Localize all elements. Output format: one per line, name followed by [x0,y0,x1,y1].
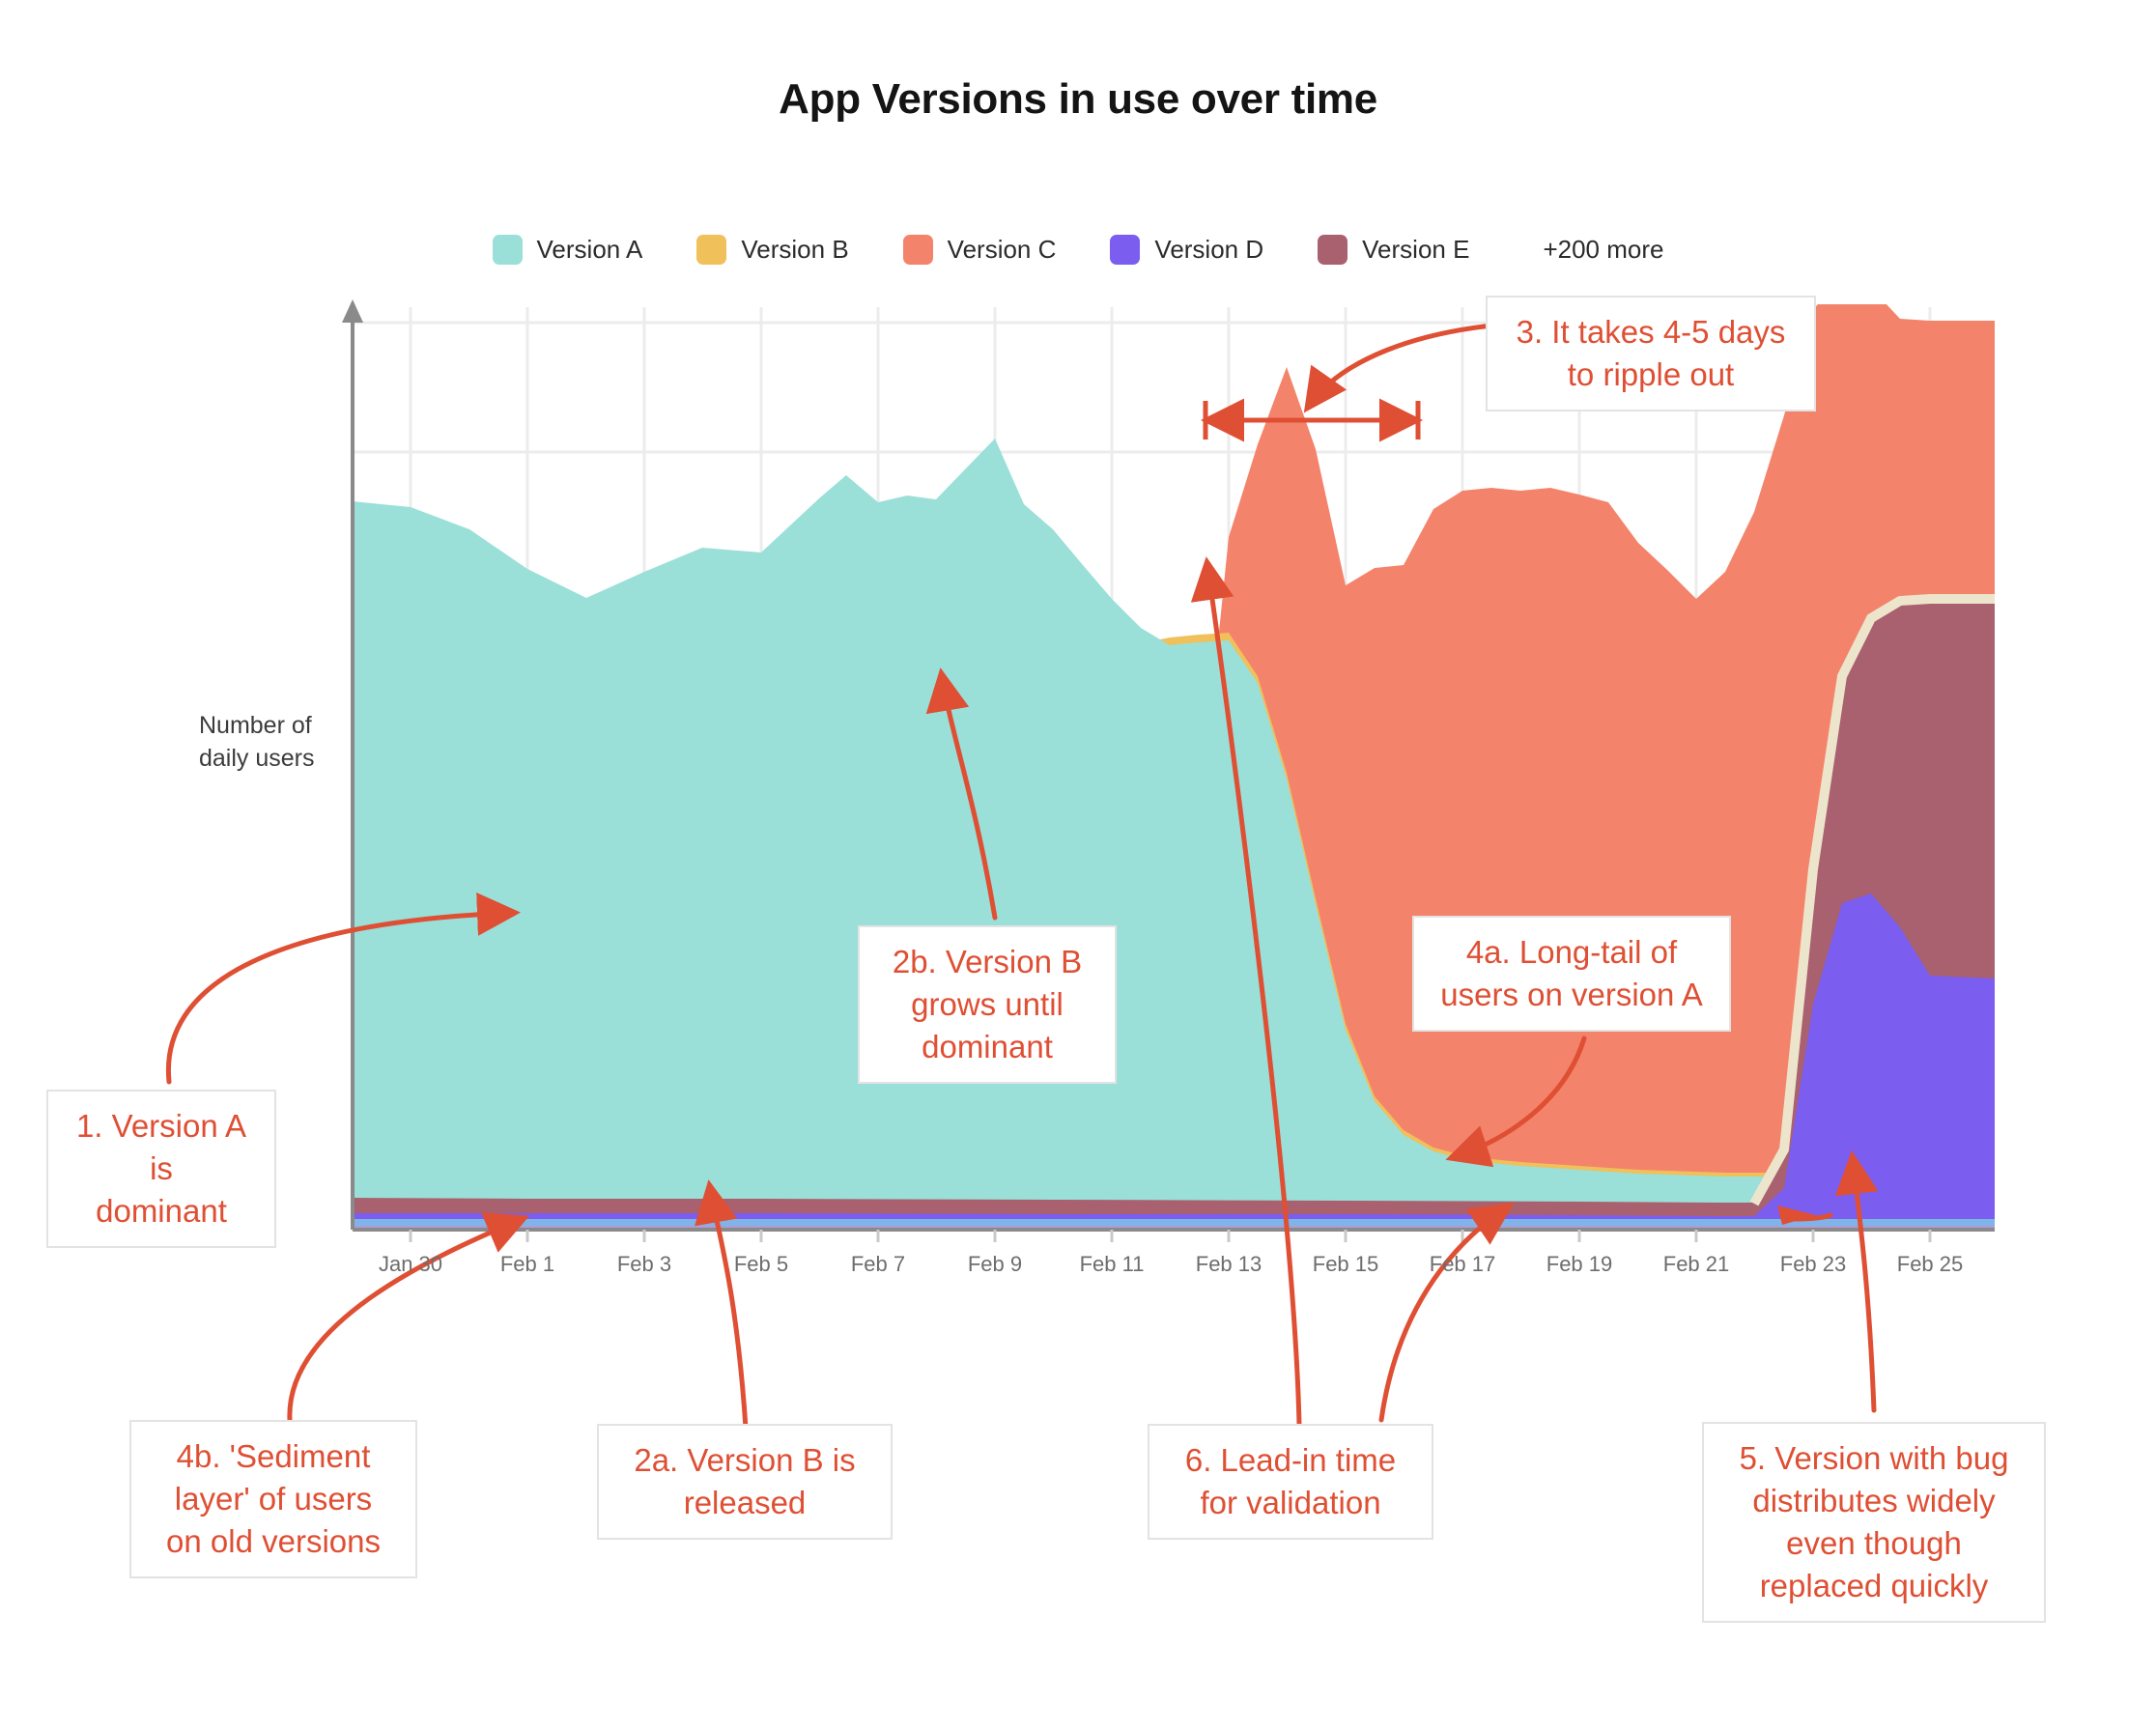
legend-item-version-b[interactable]: Version B [696,235,848,265]
legend-item-label: Version D [1154,235,1263,265]
chart-legend: Version AVersion BVersion CVersion DVers… [0,235,2156,265]
legend-swatch-icon [903,235,933,265]
axis-ticks [411,1230,1930,1242]
x-tick-label: Feb 5 [734,1252,788,1277]
annotation-3: 3. It takes 4-5 days to ripple out [1486,296,1816,411]
x-tick-label: Feb 17 [1430,1252,1496,1277]
y-axis-label: Number of daily users [199,710,315,776]
legend-item-label: Version B [741,235,848,265]
annotation-6: 6. Lead-in time for validation [1148,1424,1433,1540]
grid-horizontal [353,323,1995,971]
legend-swatch-icon [493,235,523,265]
area-version-a-dominant [353,439,1229,1230]
x-tick-label: Feb 25 [1897,1252,1964,1277]
legend-more-label[interactable]: +200 more [1543,235,1663,265]
area-version-a [353,640,1995,1230]
annotation-5: 5. Version with bug distributes widely e… [1702,1422,2046,1623]
sediment-stripe-blue [353,1219,1995,1227]
area-version-d [353,893,1995,1230]
legend-item-version-a[interactable]: Version A [493,235,643,265]
page-title: App Versions in use over time [0,75,2156,124]
area-version-b [353,633,1995,1230]
x-tick-label: Feb 11 [1080,1252,1145,1277]
legend-item-version-c[interactable]: Version C [903,235,1057,265]
legend-swatch-icon [1318,235,1347,265]
legend-item-version-d[interactable]: Version D [1110,235,1263,265]
annotation-1: 1. Version A is dominant [46,1090,276,1248]
legend-swatch-icon [696,235,726,265]
x-tick-label: Feb 7 [851,1252,905,1277]
legend-item-label: Version A [537,235,643,265]
annotation-4a: 4a. Long-tail of users on version A [1412,916,1731,1032]
x-tick-label: Feb 1 [500,1252,554,1277]
x-tick-label: Feb 21 [1663,1252,1730,1277]
x-tick-label: Feb 19 [1546,1252,1613,1277]
x-tick-label: Feb 9 [968,1252,1022,1277]
area-version-c [353,280,1995,1230]
annotation-arrow-sediment-right [1777,1205,1816,1225]
x-tick-label: Jan 30 [379,1252,442,1277]
legend-swatch-icon [1110,235,1140,265]
annotation-2b: 2b. Version B grows until dominant [858,925,1117,1084]
legend-item-version-e[interactable]: Version E [1318,235,1469,265]
axis-lines [342,299,1995,1230]
duration-bracket [1206,401,1418,440]
grid-vertical [411,307,1930,1229]
x-tick-label: Feb 15 [1313,1252,1379,1277]
x-tick-label: Feb 3 [617,1252,671,1277]
annotation-2a: 2a. Version B is released [597,1424,893,1540]
x-tick-label: Feb 13 [1196,1252,1262,1277]
series-separator-line [1754,599,1995,1204]
x-tick-label: Feb 23 [1780,1252,1847,1277]
area-version-e [353,599,1995,1230]
sediment-stripe-base [353,1226,1995,1230]
legend-item-label: Version E [1362,235,1469,265]
annotation-4b: 4b. 'Sediment layer' of users on old ver… [129,1420,417,1578]
legend-item-label: Version C [948,235,1057,265]
